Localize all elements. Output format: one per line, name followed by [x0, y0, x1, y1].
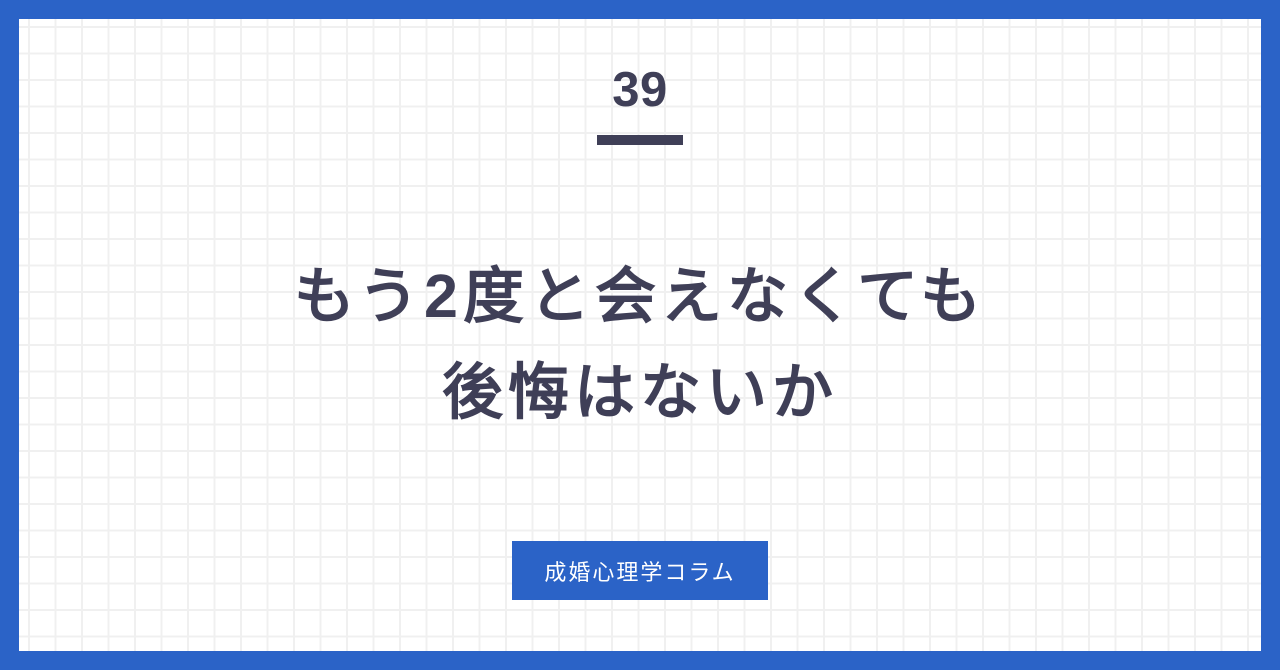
headline-line-1: もう2度と会えなくても	[19, 248, 1261, 344]
content-card: 39 もう2度と会えなくても 後悔はないか 成婚心理学コラム	[19, 19, 1261, 651]
issue-number: 39	[19, 66, 1261, 115]
category-badge[interactable]: 成婚心理学コラム	[512, 541, 768, 600]
issue-number-divider	[597, 135, 683, 145]
headline: もう2度と会えなくても 後悔はないか	[19, 248, 1261, 440]
slide-canvas: 39 もう2度と会えなくても 後悔はないか 成婚心理学コラム	[0, 0, 1280, 670]
category-badge-label: 成婚心理学コラム	[544, 555, 735, 587]
headline-line-2: 後悔はないか	[19, 344, 1261, 440]
issue-number-block: 39	[19, 66, 1261, 145]
